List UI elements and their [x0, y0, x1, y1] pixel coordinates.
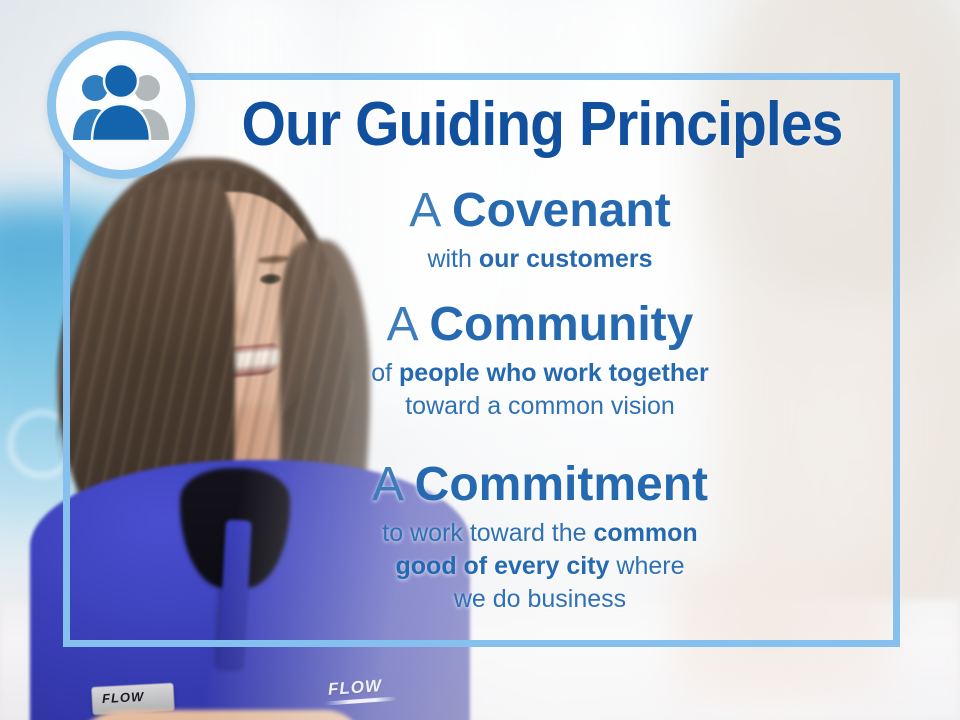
commitment-sub-bold-2: good of every city [396, 552, 610, 580]
commitment-sub-normal-2: where [609, 552, 684, 580]
principle-covenant-lead: A [409, 184, 452, 237]
commitment-sub-line-1: to work toward the common [215, 517, 865, 550]
community-sub-bold: people who work together [399, 359, 709, 387]
community-sub-line-2: toward a common vision [215, 390, 865, 423]
commitment-sub-line-2: good of every city where [215, 550, 865, 583]
principle-commitment-keyword: Commitment [415, 458, 708, 511]
guiding-principles-graphic: FLOW FLOW Our Guiding Principles [0, 0, 960, 720]
group-people-icon [70, 62, 172, 144]
forearm-left [65, 710, 365, 720]
commitment-sub-normal-1: to work toward the [382, 519, 593, 547]
principle-commitment: A Commitment to work toward the common g… [215, 460, 865, 616]
shirt-brand-text: FLOW [327, 676, 382, 700]
principle-community-lead: A [387, 298, 430, 351]
commitment-sub-bold-1: common [594, 519, 698, 547]
community-sub-normal: of [371, 359, 399, 387]
principle-commitment-lead: A [372, 458, 415, 511]
principle-covenant-heading: A Covenant [215, 186, 865, 236]
principle-community-keyword: Community [429, 298, 693, 351]
principle-commitment-subtext: to work toward the common good of every … [215, 517, 865, 616]
name-badge-brand-text: FLOW [102, 689, 145, 706]
covenant-sub-normal: with [427, 245, 478, 273]
principle-covenant: A Covenant with our customers [215, 186, 865, 276]
principle-commitment-heading: A Commitment [215, 460, 865, 510]
principle-community: A Community of people who work together … [215, 300, 865, 423]
principle-community-subtext: of people who work together toward a com… [215, 357, 865, 423]
commitment-sub-line-3: we do business [215, 583, 865, 616]
community-sub-line-1: of people who work together [215, 357, 865, 390]
principle-covenant-keyword: Covenant [452, 184, 671, 237]
principle-community-heading: A Community [215, 300, 865, 350]
page-title: Our Guiding Principles [238, 94, 845, 156]
covenant-sub-bold: our customers [479, 245, 653, 273]
principle-covenant-subtext: with our customers [215, 243, 865, 276]
